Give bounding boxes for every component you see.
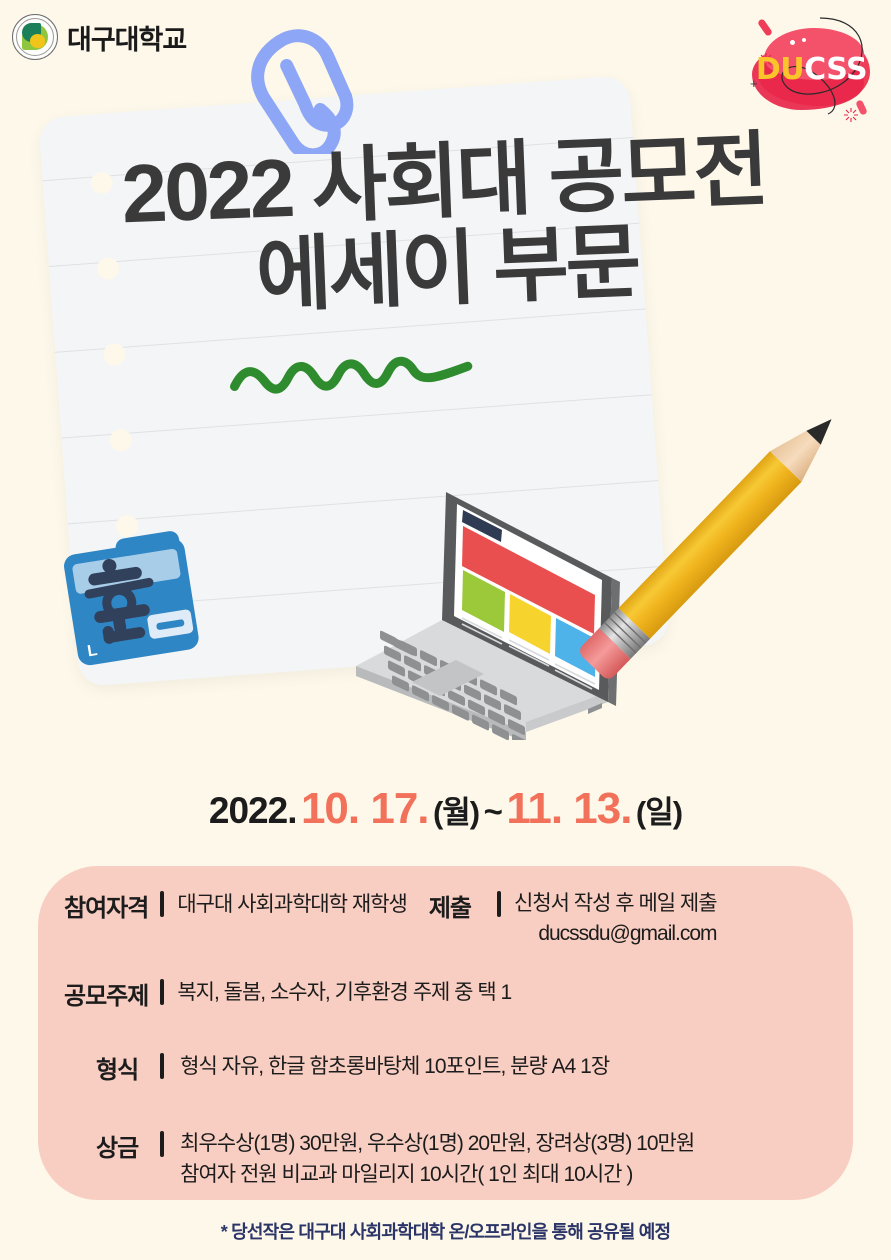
date-end-weekday: (일) bbox=[636, 795, 682, 830]
info-divider bbox=[497, 891, 501, 917]
info-divider bbox=[160, 1053, 164, 1079]
info-value-submission-email[interactable]: ducssdu@gmail.com bbox=[514, 920, 717, 947]
info-value-eligibility: 대구대 사회과학대학 재학생 bbox=[177, 891, 407, 918]
info-divider bbox=[160, 891, 164, 917]
info-panel: 참여자격 대구대 사회과학대학 재학생 제출 신청서 작성 후 메일 제출 du… bbox=[38, 866, 853, 1200]
club-logo-text: DUCSS bbox=[744, 52, 879, 87]
daegu-university-seal-icon bbox=[12, 14, 58, 60]
info-label-eligibility: 참여자격 bbox=[64, 888, 148, 923]
date-end: 11. 13. bbox=[506, 784, 631, 833]
info-label-format: 형식 bbox=[96, 1050, 138, 1085]
info-label-topic: 공모주제 bbox=[64, 976, 148, 1011]
event-date-range: 2022. 10. 17. (월) ~ 11. 13. (일) bbox=[0, 784, 891, 834]
info-divider bbox=[160, 1131, 164, 1157]
university-name: 대구대학교 bbox=[67, 18, 186, 57]
logo-sparkle-icon bbox=[843, 107, 859, 123]
poster-canvas: 대구대학교 + DUCSS bbox=[0, 0, 891, 1260]
info-label-submission: 제출 bbox=[429, 888, 471, 923]
footer-note: * 당선작은 대구대 사회과학대학 온/오프라인을 통해 공유될 예정 bbox=[0, 1218, 891, 1244]
paperclip-icon bbox=[236, 24, 356, 154]
date-tilde: ~ bbox=[484, 793, 502, 830]
info-value-submission-line1: 신청서 작성 후 메일 제출 bbox=[514, 890, 717, 917]
university-logo: 대구대학교 bbox=[12, 14, 186, 60]
info-value-prize-line2: 참여자 전원 비교과 마일리지 10시간( 1인 최대 10시간 ) bbox=[180, 1161, 694, 1188]
info-value-topic: 복지, 돌봄, 소수자, 기후환경 주제 중 택 1 bbox=[177, 979, 511, 1006]
info-value-format: 형식 자유, 한글 함초롱바탕체 10포인트, 분량 A4 1장 bbox=[180, 1053, 609, 1080]
logo-dot-icon bbox=[790, 40, 795, 45]
date-year: 2022. bbox=[209, 790, 297, 831]
id-badge-icon: L bbox=[53, 526, 209, 674]
poster-title: 2022 사회대 공모전 에세이 부문 bbox=[0, 123, 891, 331]
info-divider bbox=[160, 979, 164, 1005]
info-row-eligibility: 참여자격 대구대 사회과학대학 재학생 제출 신청서 작성 후 메일 제출 du… bbox=[64, 888, 717, 948]
pencil-icon bbox=[540, 370, 880, 720]
info-row-format: 형식 형식 자유, 한글 함초롱바탕체 10포인트, 분량 A4 1장 bbox=[96, 1050, 609, 1085]
info-value-prize-line1: 최우수상(1명) 30만원, 우수상(1명) 20만원, 장려상(3명) 10만… bbox=[180, 1130, 694, 1157]
info-label-prize: 상금 bbox=[96, 1128, 138, 1163]
logo-dot-icon bbox=[802, 38, 806, 42]
club-logo-css: CSS bbox=[804, 52, 867, 87]
date-start: 10. 17. bbox=[301, 784, 429, 833]
ducss-club-logo: + DUCSS bbox=[744, 10, 879, 125]
date-start-weekday: (월) bbox=[433, 795, 479, 830]
info-row-prize: 상금 최우수상(1명) 30만원, 우수상(1명) 20만원, 장려상(3명) … bbox=[96, 1128, 694, 1189]
info-row-topic: 공모주제 복지, 돌봄, 소수자, 기후환경 주제 중 택 1 bbox=[64, 976, 511, 1011]
club-logo-du: DU bbox=[756, 52, 804, 87]
